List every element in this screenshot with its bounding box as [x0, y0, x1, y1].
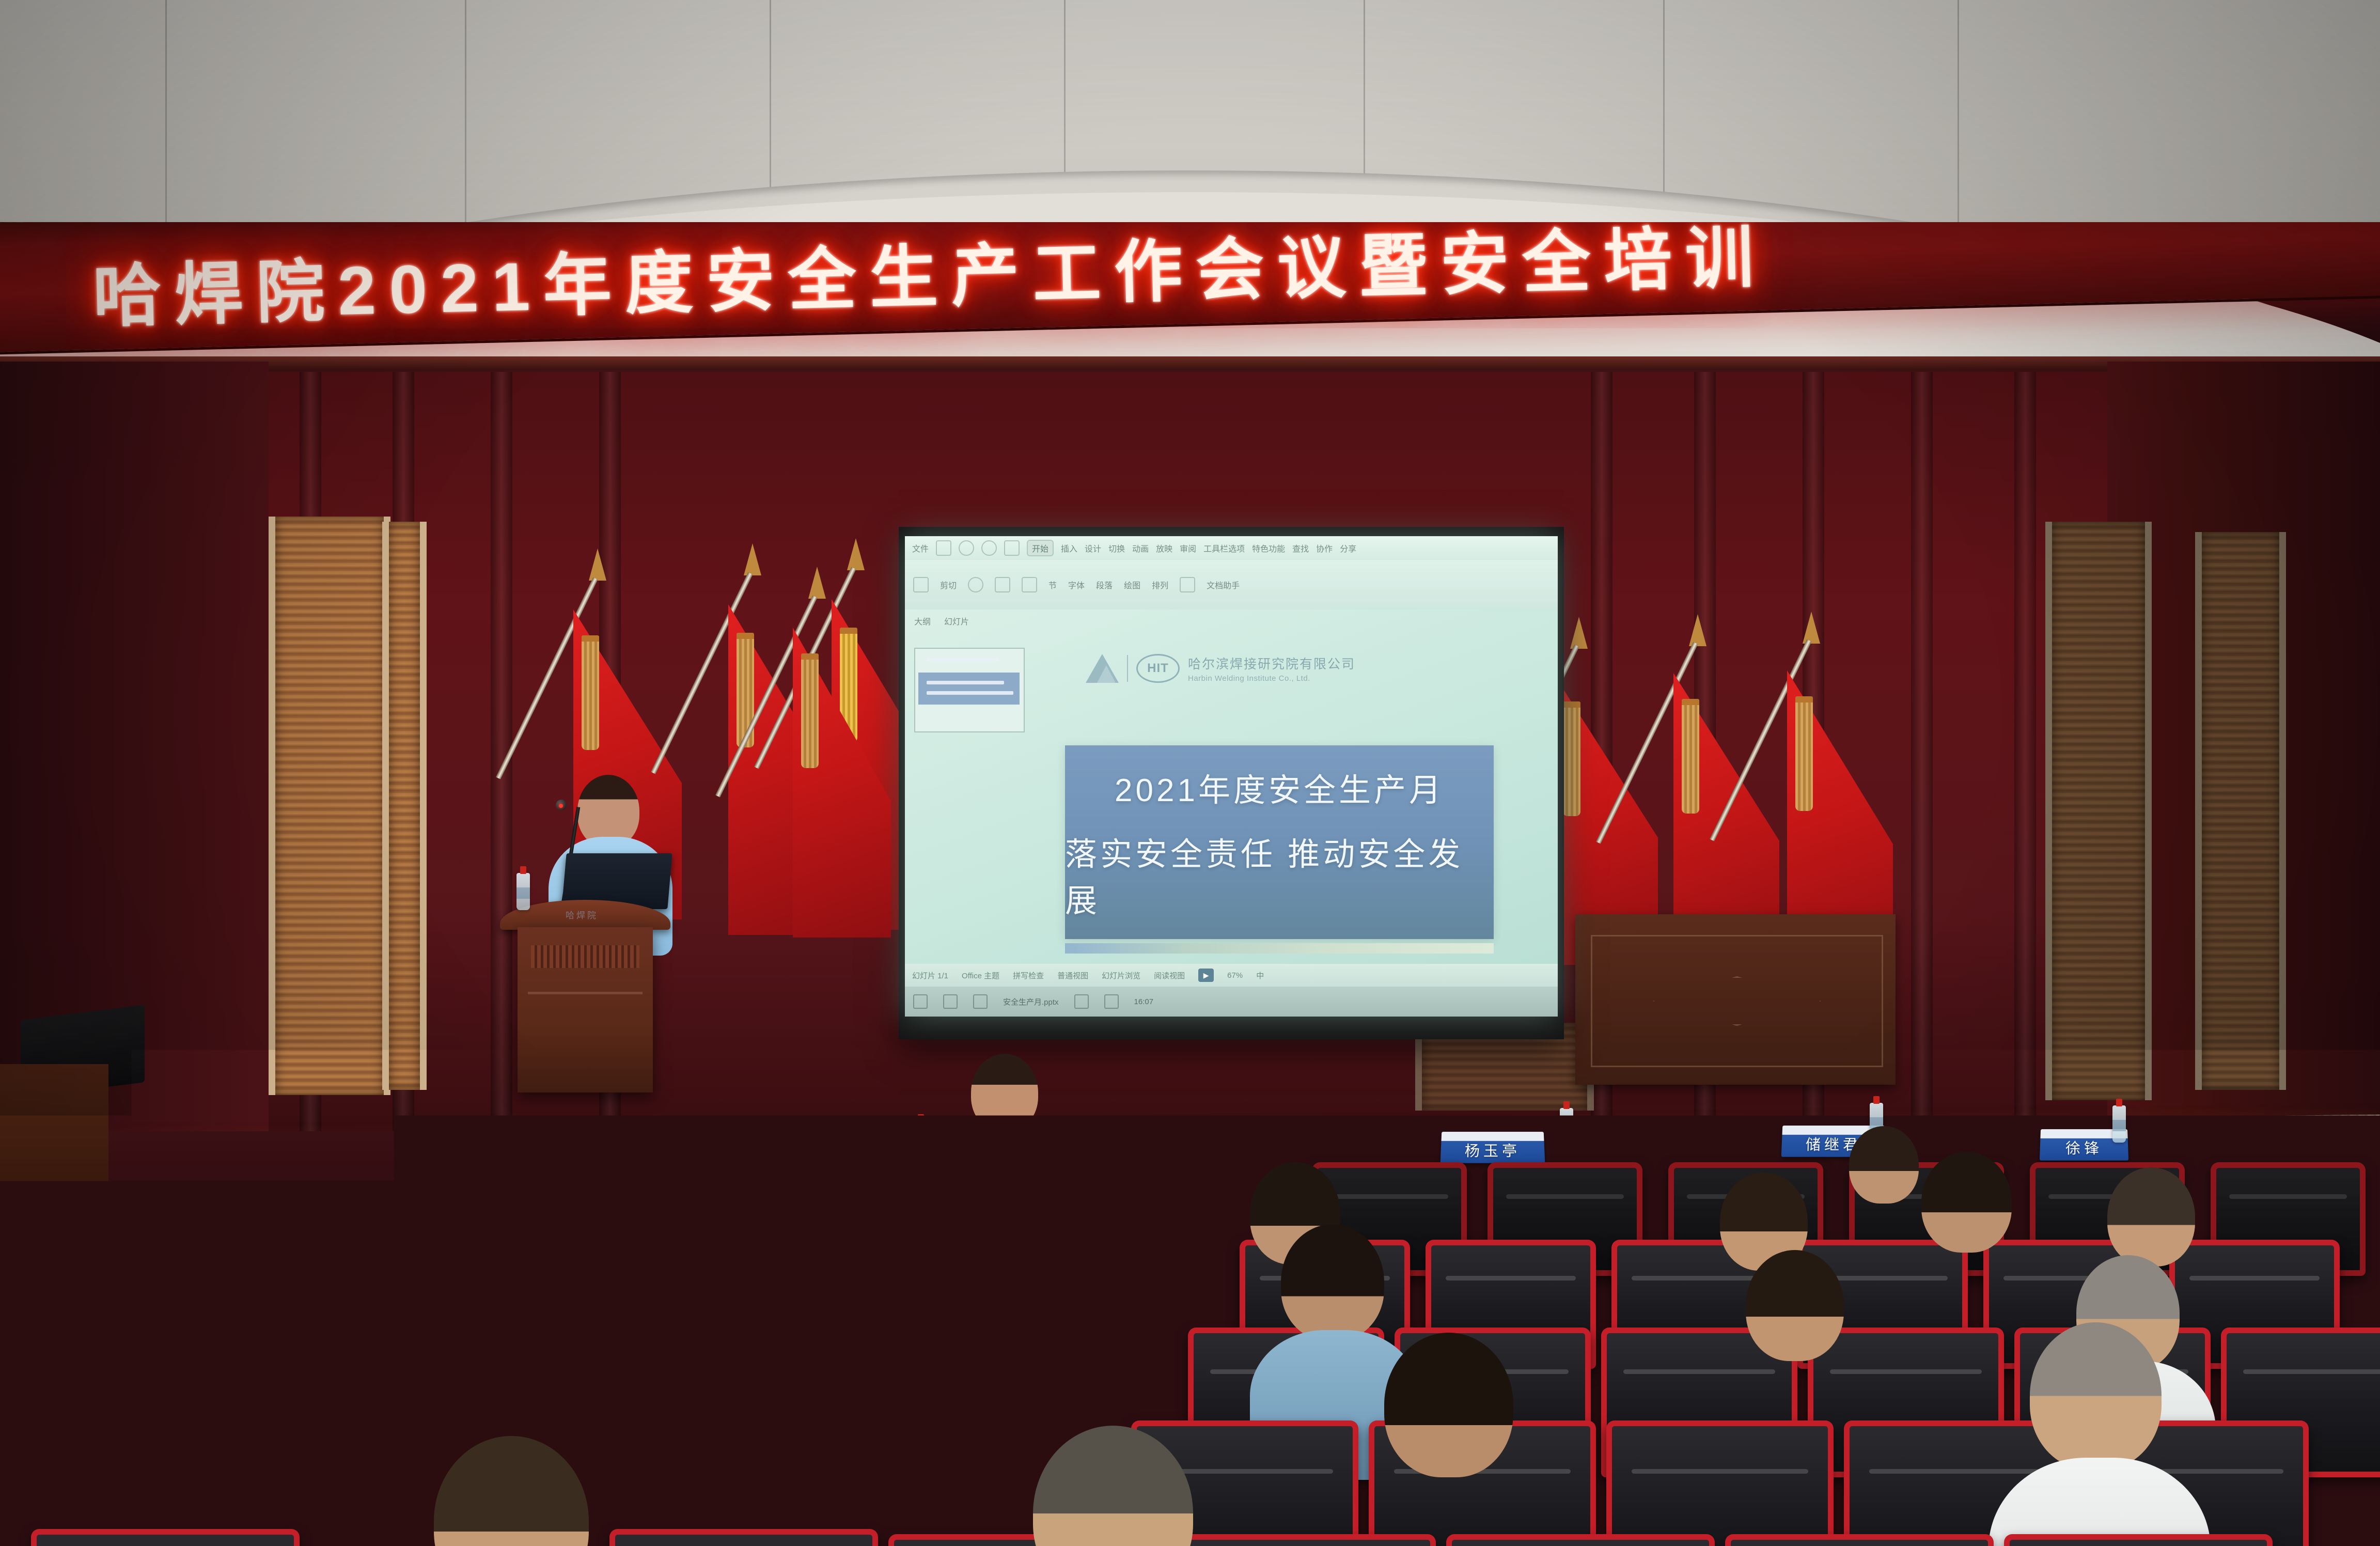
ribbon-tab-slideshow[interactable]: 放映 [1156, 542, 1172, 554]
institute-seal-icon: HIT [1136, 654, 1180, 683]
cortana-icon[interactable] [943, 994, 958, 1009]
taskbar-clock[interactable]: 16:07 [1134, 997, 1154, 1006]
slide-thumbnail[interactable] [914, 648, 1025, 732]
ribbon-tab-home[interactable]: 开始 [1027, 540, 1054, 556]
wood-panel-left-narrow [382, 522, 427, 1090]
cmd-paragraph[interactable]: 段落 [1096, 579, 1113, 591]
cmd-drawing[interactable]: 绘图 [1124, 579, 1140, 591]
ribbon-tab-insert[interactable]: 插入 [1061, 542, 1077, 554]
thumbnail-pane-tabs: 大纲 幻灯片 [914, 615, 969, 627]
water-bottle-3 [2112, 1105, 2126, 1143]
auditorium-photo: 哈焊院2021年度安全生产工作会议暨安全培训 [0, 0, 2380, 1546]
podium-logo-text: 哈焊院 [566, 908, 598, 921]
view-reading-button[interactable]: 阅读视图 [1154, 970, 1185, 981]
view-sorter-button[interactable]: 幻灯片浏览 [1102, 970, 1140, 981]
slide-thumbnail-band [918, 673, 1020, 705]
network-icon[interactable] [1074, 994, 1089, 1009]
ribbon-tab-transition[interactable]: 切换 [1108, 542, 1125, 554]
ribbon-find-button[interactable]: 查找 [1292, 542, 1309, 554]
tab-slides[interactable]: 幻灯片 [944, 615, 969, 627]
slide-title-block: 2021年度安全生产月 落实安全责任 推动安全发展 [1065, 745, 1494, 939]
slide-logo-en: Harbin Welding Institute Co., Ltd. [1188, 674, 1355, 683]
seat-row1-0 [31, 1529, 300, 1546]
layout-icon[interactable] [995, 577, 1010, 592]
projection-screen: 文件 开始 插入 设计 切换 动画 放映 审阅 工具栏选项 特色功能 查找 协作… [905, 536, 1558, 1017]
wood-panel-left [269, 517, 390, 1095]
start-menu-icon[interactable] [913, 994, 928, 1009]
water-bottle-podium [516, 873, 530, 910]
cmd-section[interactable]: 节 [1048, 579, 1057, 591]
paste-icon[interactable] [913, 577, 929, 592]
podium-grille [531, 945, 639, 968]
ribbon-tab-animation[interactable]: 动画 [1132, 542, 1149, 554]
triangle-logo-icon [1086, 654, 1119, 683]
ribbon-tab-features[interactable]: 特色功能 [1252, 542, 1285, 554]
stage-side-pillar [0, 1064, 108, 1235]
podium-panel-line [528, 992, 643, 994]
name-placard-3-text: 徐锋 [2065, 1136, 2103, 1158]
ribbon-tab-toolbar-options[interactable]: 工具栏选项 [1203, 542, 1245, 554]
tab-outline[interactable]: 大纲 [914, 615, 931, 627]
slide-title-line1: 2021年度安全生产月 [1115, 764, 1444, 810]
taskbar-open-document[interactable]: 安全生产月.pptx [1003, 996, 1059, 1007]
spellcheck-label[interactable]: 拼写检查 [1013, 970, 1044, 981]
cmd-cut[interactable]: 剪切 [940, 579, 957, 591]
seat-row1-4 [1167, 1534, 1436, 1546]
slide-logo-cn: 哈尔滨焊接研究院有限公司 [1188, 654, 1355, 673]
ribbon-collab-button[interactable]: 协作 [1316, 542, 1333, 554]
seat-row2-6 [1606, 1420, 1834, 1546]
slide-title-line2: 落实安全责任 推动安全发展 [1065, 828, 1494, 921]
volume-icon[interactable] [1104, 994, 1119, 1009]
stage-cabinet [1575, 914, 1896, 1085]
seat-row1-5 [1446, 1534, 1715, 1546]
ppt-ribbon-tabs: 文件 开始 插入 设计 切换 动画 放映 审阅 工具栏选项 特色功能 查找 协作… [905, 536, 1558, 560]
slide-logo: HIT 哈尔滨焊接研究院有限公司 Harbin Welding Institut… [1086, 654, 1355, 683]
print-icon[interactable] [1004, 540, 1020, 556]
microphone-led-icon [559, 804, 563, 808]
water-bottle-1 [1560, 1108, 1573, 1145]
led-banner: 哈焊院2021年度安全生产工作会议暨安全培训 [0, 222, 2380, 377]
editing-icon[interactable] [1180, 577, 1195, 592]
new-slide-icon[interactable] [968, 577, 983, 592]
slide-counter: 幻灯片 1/1 [912, 970, 948, 981]
ribbon-tab-review[interactable]: 审阅 [1180, 542, 1196, 554]
seat-row1-6 [1725, 1534, 1994, 1546]
seat-row1-2 [609, 1529, 878, 1546]
section-icon[interactable] [1022, 577, 1037, 592]
cmd-font[interactable]: 字体 [1068, 579, 1085, 591]
wall-trim [0, 356, 2380, 370]
name-placard-1-text: 杨玉亭 [1464, 1139, 1521, 1160]
ppt-status-bar: 幻灯片 1/1 Office 主题 拼写检查 普通视图 幻灯片浏览 阅读视图 ▶… [905, 964, 1558, 987]
redo-icon[interactable] [981, 540, 997, 556]
cmd-doc-assistant[interactable]: 文档助手 [1207, 579, 1240, 591]
ribbon-tab-design[interactable]: 设计 [1085, 542, 1101, 554]
windows-taskbar: 安全生产月.pptx 16:07 [905, 987, 1558, 1017]
ime-indicator[interactable]: 中 [1256, 970, 1264, 981]
theme-label[interactable]: Office 主题 [962, 970, 999, 981]
wood-panel-right [2045, 522, 2152, 1100]
play-slideshow-icon[interactable]: ▶ [1198, 969, 1214, 982]
browser-icon[interactable] [973, 994, 988, 1009]
cmd-arrange[interactable]: 排列 [1152, 579, 1168, 591]
ribbon-share-button[interactable]: 分享 [1340, 542, 1356, 554]
wood-panel-far-right [2195, 532, 2286, 1090]
ppt-ribbon-commands: 剪切 节 字体 段落 绘图 排列 文档助手 [905, 560, 1558, 610]
ribbon-tab-file[interactable]: 文件 [912, 542, 929, 554]
slide-accent-bar [1065, 943, 1494, 954]
view-normal-button[interactable]: 普通视图 [1057, 970, 1088, 981]
name-placard-1: 杨玉亭 [1440, 1132, 1545, 1163]
logo-divider [1127, 655, 1128, 682]
save-icon[interactable] [936, 540, 951, 556]
zoom-level[interactable]: 67% [1227, 971, 1243, 980]
water-bottle-4 [914, 1121, 928, 1158]
undo-icon[interactable] [959, 540, 974, 556]
